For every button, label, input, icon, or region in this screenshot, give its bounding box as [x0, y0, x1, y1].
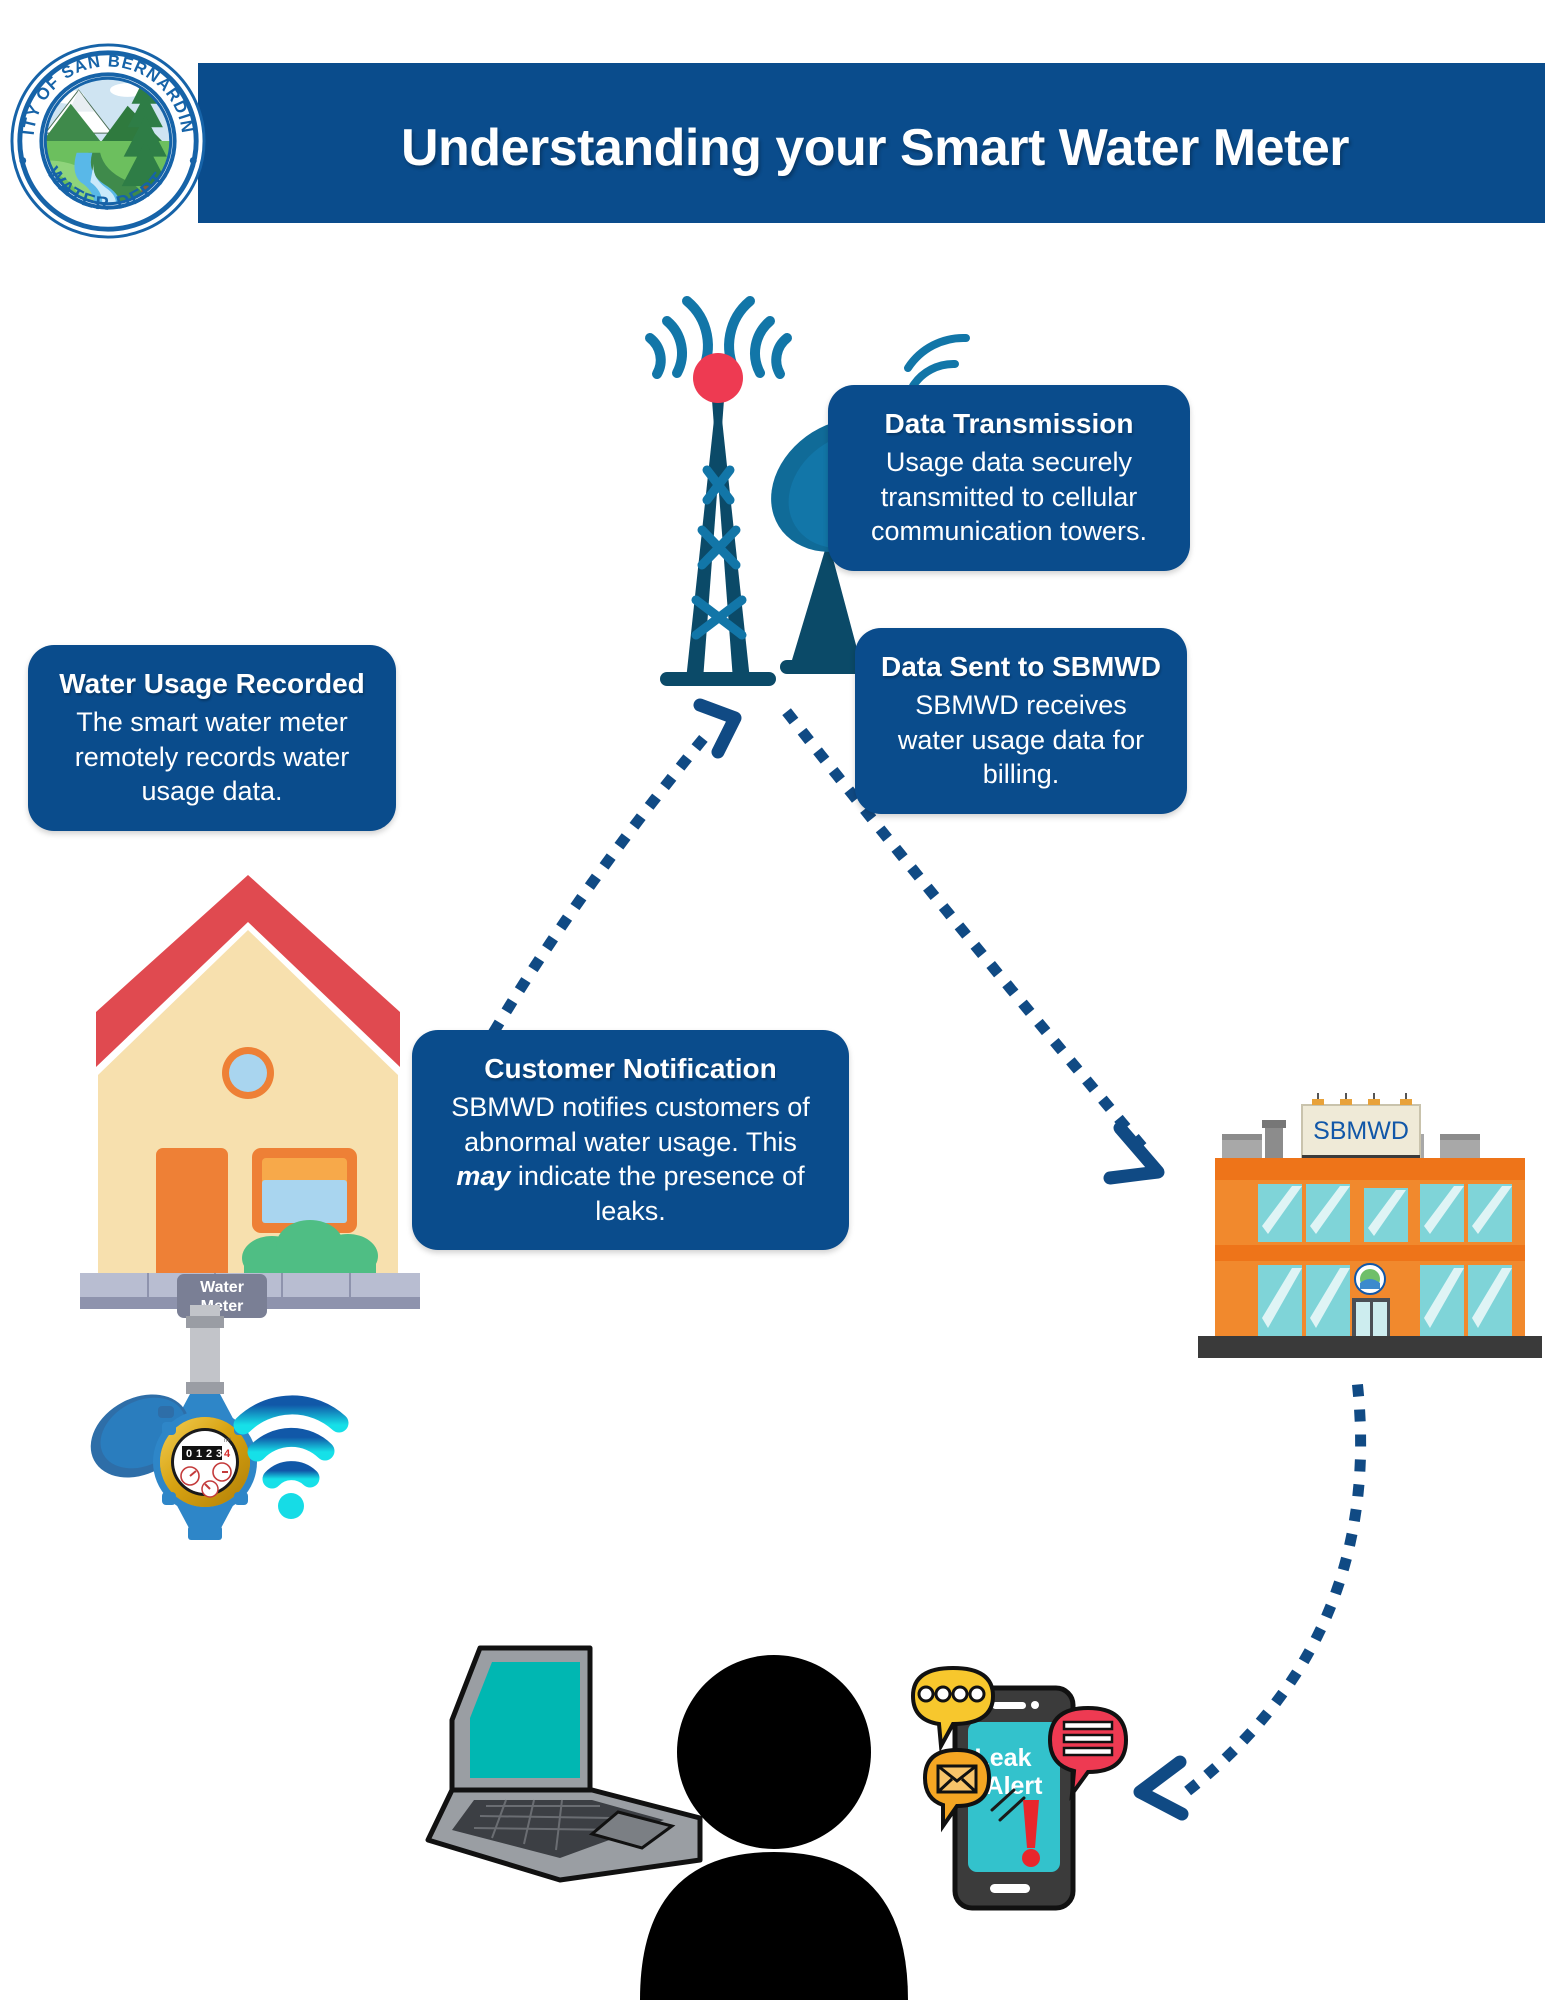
svg-text:0: 0	[186, 1448, 192, 1460]
customer-silhouette-icon	[640, 1655, 908, 2000]
info-box-body-part2: indicate the presence of leaks.	[510, 1161, 804, 1226]
water-meter-label: Water Meter	[177, 1274, 267, 1318]
svg-text:m³: m³	[224, 1438, 231, 1444]
svg-text:Meter: Meter	[201, 1298, 244, 1315]
svg-text:1: 1	[196, 1448, 202, 1460]
info-box-body: SBMWD receives water usage data for bill…	[879, 688, 1163, 792]
info-box-body: The smart water meter remotely records w…	[52, 705, 372, 809]
leak-alert-line2: Alert	[986, 1772, 1044, 1800]
house-icon	[80, 875, 420, 1309]
arrow-head-to-building	[1110, 1128, 1158, 1178]
svg-text:Water: Water	[200, 1279, 244, 1296]
wifi-dot-icon	[278, 1493, 304, 1519]
arrow-head-to-customer	[1140, 1762, 1182, 1814]
leak-alert-line1: Leak	[975, 1744, 1032, 1772]
info-box-title: Data Transmission	[852, 407, 1166, 441]
cell-tower-icon	[650, 301, 787, 686]
svg-text:2: 2	[206, 1448, 212, 1460]
illustration-layer: Water Meter	[0, 0, 1545, 2000]
info-box-data-transmission: Data Transmission Usage data securely tr…	[828, 385, 1190, 571]
info-box-water-usage-recorded: Water Usage Recorded The smart water met…	[28, 645, 396, 831]
page-title: Understanding your Smart Water Meter	[260, 118, 1490, 178]
info-box-body: SBMWD notifies customers of abnormal wat…	[436, 1090, 825, 1228]
info-box-title: Data Sent to SBMWD	[879, 650, 1163, 684]
svg-text:3: 3	[216, 1448, 222, 1460]
san-bernardino-water-dept-seal-icon: CITY OF SAN BERNARDINO WATER DEPT.	[10, 43, 206, 239]
info-box-body-emphasis: may	[456, 1161, 510, 1191]
info-box-body-part1: SBMWD notifies customers of abnormal wat…	[451, 1092, 810, 1157]
info-box-customer-notification: Customer Notification SBMWD notifies cus…	[412, 1030, 849, 1250]
info-box-title: Customer Notification	[436, 1052, 825, 1086]
info-box-data-sent-to-sbmwd: Data Sent to SBMWD SBMWD receives water …	[855, 628, 1187, 814]
chat-bubble-envelope-icon	[925, 1750, 989, 1826]
laptop-icon	[428, 1648, 700, 1880]
phone-leak-alert-icon: Leak Alert	[913, 1668, 1126, 1908]
building-windows	[1258, 1184, 1512, 1340]
arrow-head-to-tower	[700, 705, 735, 752]
chat-bubble-dots-icon	[913, 1668, 993, 1746]
info-box-title: Water Usage Recorded	[52, 667, 372, 701]
sbmwd-building-icon: SBMWD	[1198, 1093, 1542, 1358]
infographic-page: Understanding your Smart Water Meter	[0, 0, 1545, 2000]
svg-text:4: 4	[224, 1448, 231, 1460]
wifi-signal-icon	[243, 1405, 339, 1479]
info-box-body: Usage data securely transmitted to cellu…	[852, 445, 1166, 549]
smart-water-meter-icon: 0 1 2 3 4 m³	[76, 1305, 257, 1540]
billboard-text: SBMWD	[1313, 1117, 1409, 1145]
arrow-building-to-customer	[1185, 1390, 1361, 1793]
chat-bubble-lines-icon	[1050, 1708, 1126, 1794]
